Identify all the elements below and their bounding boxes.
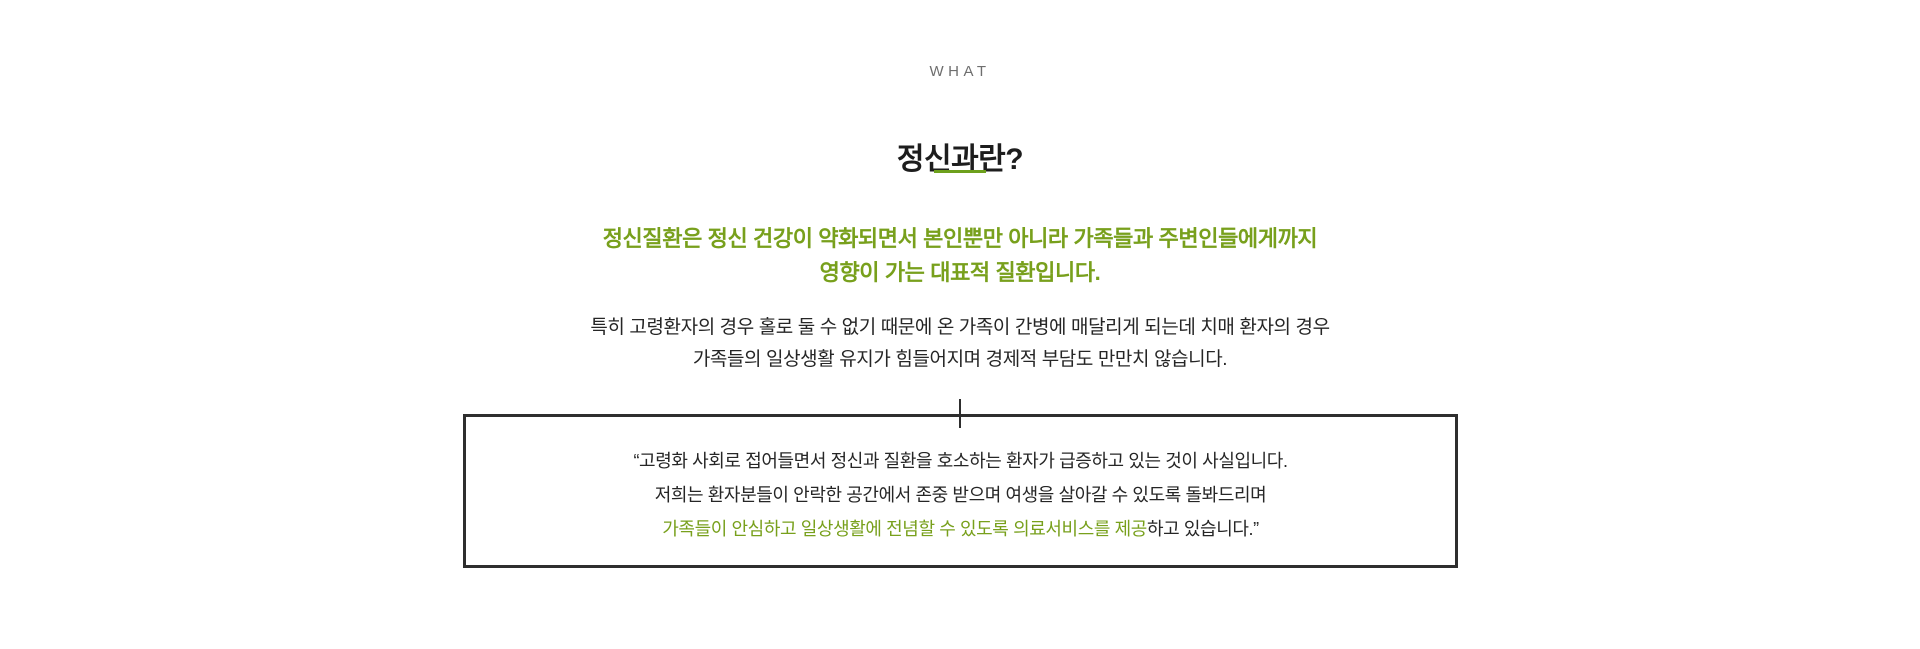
quote-text: “고령화 사회로 접어들면서 정신과 질환을 호소하는 환자가 급증하고 있는 … — [466, 444, 1455, 546]
quote-box: “고령화 사회로 접어들면서 정신과 질환을 호소하는 환자가 급증하고 있는 … — [463, 414, 1458, 568]
quote-line-3-accent: 가족들이 안심하고 일상생활에 전념할 수 있도록 의료서비스를 제공 — [662, 519, 1147, 539]
lead-line-2: 영향이 가는 대표적 질환입니다. — [0, 256, 1920, 290]
quote-line-2: 저희는 환자분들이 안락한 공간에서 존중 받으며 여생을 살아갈 수 있도록 … — [466, 478, 1455, 512]
what-section: WHAT 정신과란? 정신질환은 정신 건강이 약화되면서 본인뿐만 아니라 가… — [0, 0, 1920, 649]
quote-line-3: 가족들이 안심하고 일상생활에 전념할 수 있도록 의료서비스를 제공하고 있습… — [466, 512, 1455, 546]
body-paragraph: 특히 고령환자의 경우 홀로 둘 수 없기 때문에 온 가족이 간병에 매달리게… — [0, 312, 1920, 376]
body-line-2: 가족들의 일상생활 유지가 힘들어지며 경제적 부담도 만만치 않습니다. — [0, 344, 1920, 376]
lead-line-1: 정신질환은 정신 건강이 약화되면서 본인뿐만 아니라 가족들과 주변인들에게까… — [0, 222, 1920, 256]
title-divider-wrap — [0, 169, 1920, 173]
quote-line-1: “고령화 사회로 접어들면서 정신과 질환을 호소하는 환자가 급증하고 있는 … — [466, 444, 1455, 478]
body-line-1: 특히 고령환자의 경우 홀로 둘 수 없기 때문에 온 가족이 간병에 매달리게… — [0, 312, 1920, 344]
section-eyebrow-label: WHAT — [0, 62, 1920, 82]
quote-line-3-plain: 하고 있습니다.” — [1147, 519, 1259, 539]
title-divider — [934, 170, 986, 173]
lead-statement: 정신질환은 정신 건강이 약화되면서 본인뿐만 아니라 가족들과 주변인들에게까… — [0, 222, 1920, 290]
page-title: 정신과란? — [0, 140, 1920, 180]
